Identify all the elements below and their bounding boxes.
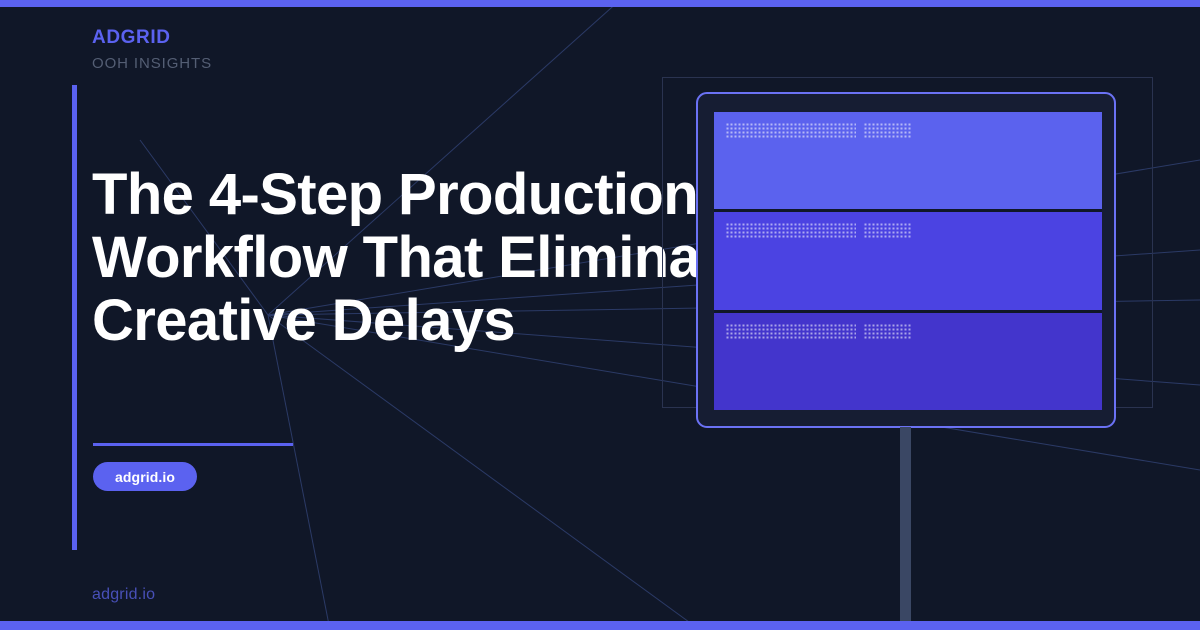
url-badge[interactable]: adgrid.io xyxy=(93,462,197,491)
brand-block: ADGRID OOH INSIGHTS xyxy=(92,27,212,72)
top-accent-bar xyxy=(0,0,1200,7)
url-badge-label: adgrid.io xyxy=(115,469,175,485)
placeholder-bar-long xyxy=(726,123,856,138)
placeholder-bar-long xyxy=(726,223,856,238)
left-accent-rule xyxy=(72,85,77,550)
placeholder-bar-long xyxy=(726,324,856,339)
billboard-panel-bottom xyxy=(714,313,1102,410)
billboard-graphic xyxy=(696,92,1116,428)
brand-name: ADGRID xyxy=(92,27,212,49)
placeholder-bar-short xyxy=(864,123,912,138)
placeholder-bar-short xyxy=(864,223,912,238)
billboard-panel-top xyxy=(714,112,1102,212)
placeholder-bar-short xyxy=(864,324,912,339)
social-card: ADGRID OOH INSIGHTS The 4-Step Productio… xyxy=(0,0,1200,630)
brand-tagline: OOH INSIGHTS xyxy=(92,55,212,72)
billboard-screen xyxy=(714,112,1102,410)
bottom-accent-bar xyxy=(0,621,1200,630)
billboard-pole xyxy=(900,427,911,621)
billboard-panel-middle xyxy=(714,212,1102,312)
footer-url: adgrid.io xyxy=(92,586,155,604)
headline-divider xyxy=(93,443,293,446)
